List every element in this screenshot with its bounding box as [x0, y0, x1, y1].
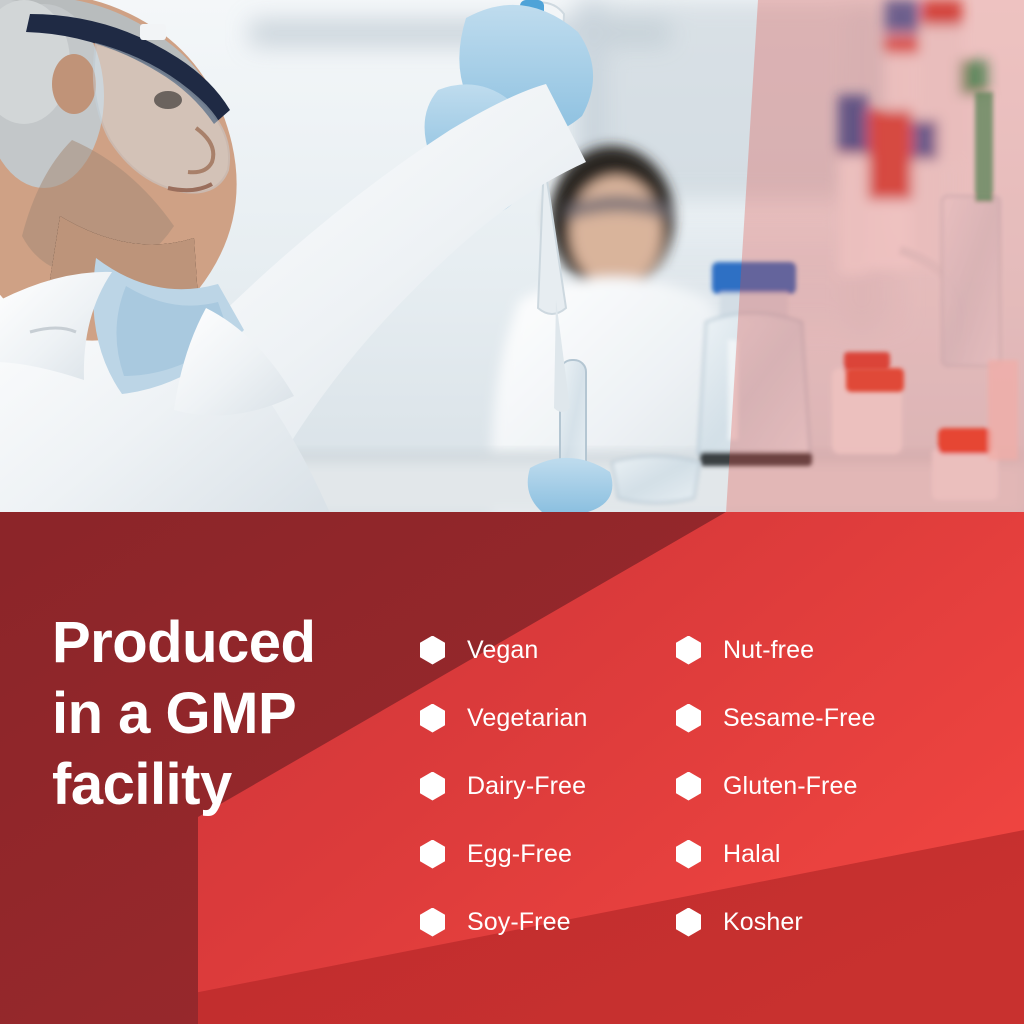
list-item[interactable]: Egg-Free — [420, 820, 676, 888]
badge-column-left: Vegan Vegetarian Dairy-Free Egg-Free — [420, 616, 676, 956]
hexagon-bullet-icon — [676, 772, 701, 801]
list-item[interactable]: Soy-Free — [420, 888, 676, 956]
promo-poster: Produced in a GMP facility Vegan Vegetar… — [0, 0, 1024, 1024]
badge-label: Gluten-Free — [723, 774, 858, 799]
badge-label: Vegan — [467, 638, 538, 663]
badge-label: Vegetarian — [467, 706, 588, 731]
badge-label: Soy-Free — [467, 910, 571, 935]
list-item[interactable]: Kosher — [676, 888, 976, 956]
list-item[interactable]: Nut-free — [676, 616, 976, 684]
hexagon-bullet-icon — [676, 704, 701, 733]
badge-label: Dairy-Free — [467, 774, 586, 799]
laboratory-photo-illustration — [0, 0, 1024, 513]
hexagon-bullet-icon — [420, 772, 445, 801]
hexagon-bullet-icon — [676, 908, 701, 937]
badge-label: Egg-Free — [467, 842, 572, 867]
hexagon-bullet-icon — [420, 636, 445, 665]
hexagon-bullet-icon — [676, 636, 701, 665]
hexagon-bullet-icon — [420, 704, 445, 733]
list-item[interactable]: Vegan — [420, 616, 676, 684]
list-item[interactable]: Halal — [676, 820, 976, 888]
page-title: Produced in a GMP facility — [0, 608, 420, 820]
certification-badge-lists: Vegan Vegetarian Dairy-Free Egg-Free — [420, 608, 1024, 956]
hexagon-bullet-icon — [676, 840, 701, 869]
badge-label: Halal — [723, 842, 780, 867]
hexagon-bullet-icon — [420, 908, 445, 937]
list-item[interactable]: Dairy-Free — [420, 752, 676, 820]
badge-column-right: Nut-free Sesame-Free Gluten-Free Halal — [676, 616, 976, 956]
list-item[interactable]: Gluten-Free — [676, 752, 976, 820]
hexagon-bullet-icon — [420, 840, 445, 869]
badge-label: Nut-free — [723, 638, 814, 663]
laboratory-photo — [0, 0, 1024, 513]
red-info-panel: Produced in a GMP facility Vegan Vegetar… — [0, 512, 1024, 1024]
badge-label: Sesame-Free — [723, 706, 876, 731]
list-item[interactable]: Sesame-Free — [676, 684, 976, 752]
list-item[interactable]: Vegetarian — [420, 684, 676, 752]
badge-label: Kosher — [723, 910, 803, 935]
